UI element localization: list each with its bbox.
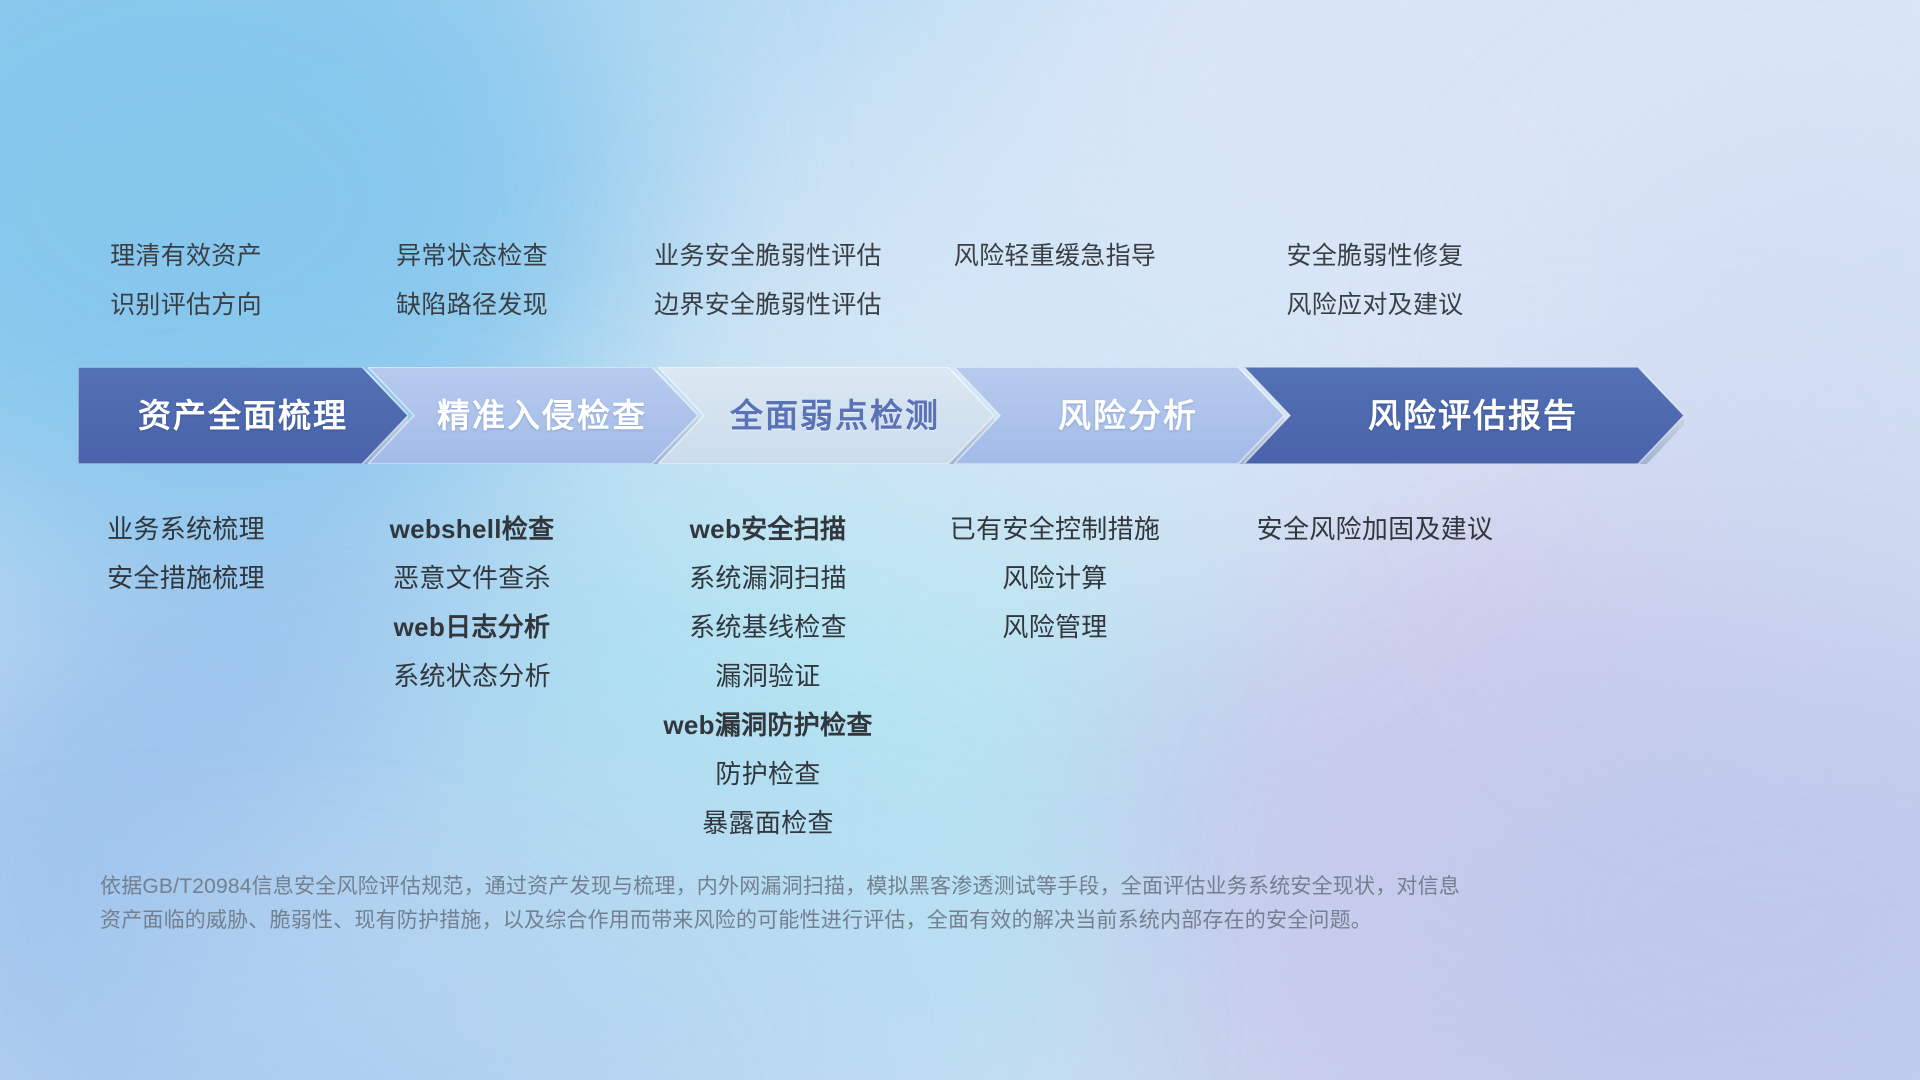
process-step-3[interactable]: 全面弱点检测 xyxy=(658,367,994,464)
top-note: 异常状态检查 xyxy=(396,232,548,281)
detail-item: 暴露面检查 xyxy=(702,799,834,848)
top-notes-row: 理清有效资产识别评估方向异常状态检查缺陷路径发现业务安全脆弱性评估边界安全脆弱性… xyxy=(0,232,1920,342)
detail-item: web漏洞防护检查 xyxy=(663,701,872,750)
process-step-label: 风险评估报告 xyxy=(1368,399,1578,432)
process-step-2[interactable]: 精准入侵检查 xyxy=(368,367,698,464)
process-step-label: 全面弱点检测 xyxy=(730,399,940,432)
top-note: 风险应对及建议 xyxy=(1286,281,1463,330)
detail-item: 系统漏洞扫描 xyxy=(689,554,847,603)
detail-item: 风险计算 xyxy=(1002,554,1107,603)
footer-line: 依据GB/T20984信息安全风险评估规范，通过资产发现与梳理，内外网漏洞扫描，… xyxy=(100,870,1660,904)
process-step-4[interactable]: 风险分析 xyxy=(954,367,1284,464)
process-step-label: 资产全面梳理 xyxy=(138,399,348,432)
process-chevron-band: 资产全面梳理 精准入侵检查 xyxy=(0,367,1920,464)
footer-description: 依据GB/T20984信息安全风险评估规范，通过资产发现与梳理，内外网漏洞扫描，… xyxy=(100,870,1660,938)
detail-item: 业务系统梳理 xyxy=(107,505,265,554)
top-note: 安全脆弱性修复 xyxy=(1286,232,1463,281)
detail-item: 系统基线检查 xyxy=(689,603,847,652)
top-note: 边界安全脆弱性评估 xyxy=(654,281,882,330)
detail-item: 防护检查 xyxy=(715,750,820,799)
top-note: 风险轻重缓急指导 xyxy=(954,232,1156,281)
detail-item: 已有安全控制措施 xyxy=(950,505,1160,554)
top-note: 识别评估方向 xyxy=(110,281,262,330)
detail-item: 安全风险加固及建议 xyxy=(1257,505,1494,554)
process-step-1[interactable]: 资产全面梳理 xyxy=(78,367,408,464)
detail-item: 风险管理 xyxy=(1002,603,1107,652)
process-step-label: 精准入侵检查 xyxy=(437,399,647,432)
slide-canvas: 理清有效资产识别评估方向异常状态检查缺陷路径发现业务安全脆弱性评估边界安全脆弱性… xyxy=(0,0,1920,1080)
top-note-column-5: 安全脆弱性修复风险应对及建议 xyxy=(1155,232,1595,330)
detail-item: 漏洞验证 xyxy=(715,652,820,701)
detail-item: 恶意文件查杀 xyxy=(393,554,551,603)
process-step-5[interactable]: 风险评估报告 xyxy=(1244,367,1684,464)
detail-item: web安全扫描 xyxy=(690,505,847,554)
detail-item: web日志分析 xyxy=(394,603,551,652)
top-note: 缺陷路径发现 xyxy=(396,281,548,330)
detail-item: 安全措施梳理 xyxy=(107,554,265,603)
detail-item: 系统状态分析 xyxy=(393,652,551,701)
top-note: 理清有效资产 xyxy=(110,232,262,281)
process-step-label: 风险分析 xyxy=(1058,399,1198,432)
detail-item: webshell检查 xyxy=(390,505,555,554)
footer-line: 资产面临的威胁、脆弱性、现有防护措施，以及综合作用而带来风险的可能性进行评估，全… xyxy=(100,904,1660,938)
detail-column-5: 安全风险加固及建议 xyxy=(1155,505,1595,554)
